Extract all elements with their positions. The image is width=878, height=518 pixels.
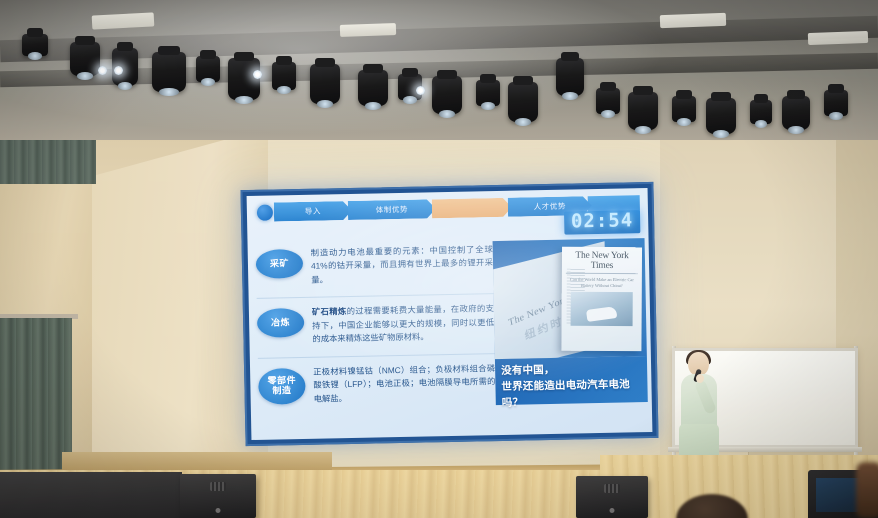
slide-quote-box: 没有中国， 世界还能造出电动汽车电池吗？ [495, 356, 648, 405]
nav-tab-system-advantage[interactable]: 体制优势 [348, 199, 436, 220]
stage-light-fixture [432, 76, 462, 114]
speaker-led [216, 508, 221, 513]
stage-light-fixture [782, 96, 810, 130]
nav-tab-current-active[interactable] [432, 198, 512, 219]
auditorium-scene: 导入 体制优势 人才优势 02:54 采矿 制造动力电池最重要的元素：中国控制了… [0, 0, 878, 518]
stage-light-fixture [628, 92, 658, 130]
row-divider [258, 353, 495, 359]
row-text-lead: 矿石精炼 [312, 306, 347, 317]
stage-riser-dark [0, 472, 182, 518]
stage-light-fixture [310, 64, 340, 104]
light-beam-glow [98, 66, 107, 75]
row-text-body: 制造动力电池最重要的元素：中国控制了全球41%的钴开采量，而且拥有世界上最多的锂… [311, 244, 493, 285]
newspaper-image-panel: The New York Tim 纽约时报 The New York Times… [493, 238, 647, 359]
stage-light-fixture [824, 90, 848, 116]
stage-light-fixture [358, 70, 388, 106]
stage-monitor-speaker [180, 474, 256, 518]
row-divider [257, 293, 494, 299]
row-label-line: 制造 [272, 386, 291, 396]
slide-row-mining: 采矿 制造动力电池最重要的元素：中国控制了全球41%的钴开采量，而且拥有世界上最… [256, 243, 494, 288]
stage-light-fixture [596, 88, 620, 114]
presenter-hand [696, 374, 704, 383]
speaker-led [610, 508, 615, 513]
speaker-grille [210, 482, 226, 491]
row-label-smelting: 冶炼 [257, 308, 305, 338]
stage-monitor-speaker [576, 476, 648, 518]
stage-light-fixture [196, 56, 220, 82]
nav-tab-intro[interactable]: 导入 [274, 201, 352, 222]
stage-light-fixture [706, 98, 736, 134]
slide-row-smelting: 冶炼 矿石精炼的过程需要耗费大量能量，在政府的支持下，中国企业能够以更大的规模，… [257, 302, 495, 347]
projection-screen[interactable]: 导入 体制优势 人才优势 02:54 采矿 制造动力电池最重要的元素：中国控制了… [240, 182, 658, 446]
nav-start-dot [257, 204, 273, 220]
row-label-mining: 采矿 [256, 249, 304, 279]
row-text-components: 正极材料镍锰钴（NMC）组合；负极材料组合磷酸铁锂（LFP）；电池正极；电池隔膜… [313, 362, 496, 406]
row-text-mining: 制造动力电池最重要的元素：中国控制了全球41%的钴开采量，而且拥有世界上最多的锂… [311, 243, 494, 287]
stage-light-fixture [152, 52, 186, 92]
presentation-slide: 导入 体制优势 人才优势 02:54 采矿 制造动力电池最重要的元素：中国控制了… [247, 188, 653, 440]
ceiling-light-panel [660, 13, 726, 28]
wood-wall-panel [88, 128, 268, 480]
timer-value: 02:54 [571, 211, 634, 231]
stage-light-fixture [476, 80, 500, 106]
row-text-body: 正极材料镍锰钴（NMC）组合；负极材料组合磷酸铁锂（LFP）；电池正极；电池隔膜… [313, 363, 495, 404]
stage-light-fixture [750, 100, 772, 124]
slide-content-rows: 采矿 制造动力电池最重要的元素：中国控制了全球41%的钴开采量，而且拥有世界上最… [256, 243, 496, 417]
newspaper-front-page: The New York Times Can the World Make an… [561, 247, 642, 351]
countdown-timer: 02:54 [564, 210, 641, 235]
light-beam-glow [416, 86, 425, 95]
stage-light-fixture [508, 82, 538, 122]
stage-light-fixture [672, 96, 696, 122]
foreground-blur-object [856, 462, 878, 518]
row-label-line: 冶炼 [271, 318, 290, 328]
row-label-line: 采矿 [270, 259, 289, 269]
row-text-smelting: 矿石精炼的过程需要耗费大量能量，在政府的支持下，中国企业能够以更大的规模，同时以… [312, 302, 495, 346]
slide-row-components: 零部件 制造 正极材料镍锰钴（NMC）组合；负极材料组合磷酸铁锂（LFP）；电池… [258, 362, 496, 407]
stage-light-fixture [22, 34, 48, 56]
row-label-components: 零部件 制造 [258, 368, 306, 405]
speaker-grille [604, 484, 620, 493]
stage-light-fixture [272, 62, 296, 90]
ceiling-light-panel [808, 31, 868, 45]
stage-light-fixture [70, 42, 100, 76]
stage-light-fixture [228, 58, 260, 100]
newspaper-photo [571, 292, 633, 326]
ceiling-light-panel [340, 23, 396, 37]
stage-base-strip [62, 452, 332, 470]
quote-line-2: 世界还能造出电动汽车电池吗？ [501, 377, 642, 411]
stage-light-fixture [556, 58, 584, 96]
light-beam-glow [253, 70, 262, 79]
light-beam-glow [114, 66, 123, 75]
